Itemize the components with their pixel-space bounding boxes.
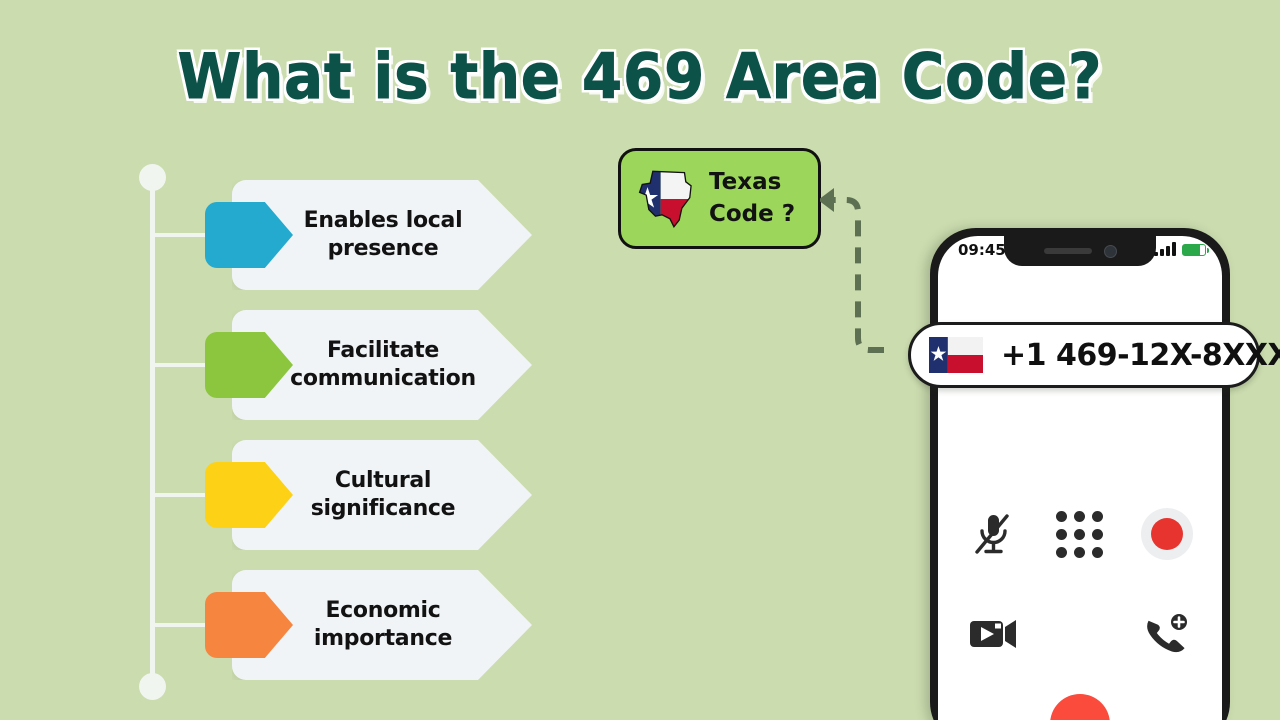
caller-number-pill[interactable]: +1 469-12X-8XXX (908, 322, 1260, 388)
feature-label: Enables local presence (268, 180, 498, 290)
keypad-dots-icon (1056, 511, 1103, 558)
end-call-button[interactable] (1050, 694, 1110, 720)
record-button-ring (1141, 508, 1193, 560)
texas-badge-label: Texas Code ? (709, 167, 795, 229)
mute-button[interactable] (961, 502, 1025, 566)
feature-item-economic-importance[interactable]: Economic importance (0, 570, 560, 680)
record-button[interactable] (1135, 502, 1199, 566)
cellular-signal-icon (1154, 242, 1176, 256)
mic-off-icon (973, 512, 1013, 556)
feature-label: Economic importance (268, 570, 498, 680)
phone-screen: 09:45 (938, 236, 1222, 720)
add-call-button[interactable] (1134, 602, 1198, 666)
call-controls-row-2 (950, 584, 1210, 684)
call-controls-row-1 (950, 484, 1210, 584)
status-bar-indicators (1154, 242, 1206, 256)
page-title: What is the 469 Area Code? (45, 40, 1235, 113)
phone-plus-icon (1143, 612, 1189, 656)
end-call-handset-icon (1063, 707, 1097, 720)
video-camera-icon (969, 615, 1019, 653)
infographic-canvas: What is the 469 Area Code? Enables local… (0, 0, 1280, 720)
phone-notch (1004, 236, 1156, 266)
texas-state-flag-map-icon (633, 166, 699, 232)
keypad-button[interactable] (1048, 502, 1112, 566)
smartphone-mockup: 09:45 (930, 228, 1230, 720)
feature-item-enables-local-presence[interactable]: Enables local presence (0, 180, 560, 290)
feature-item-facilitate-communication[interactable]: Facilitate communication (0, 310, 560, 420)
battery-icon (1182, 244, 1206, 256)
caller-number: +1 469-12X-8XXX (1001, 338, 1280, 373)
feature-label: Cultural significance (268, 440, 498, 550)
front-camera-icon (1104, 245, 1117, 258)
feature-label: Facilitate communication (268, 310, 498, 420)
status-bar-time: 09:45 (958, 241, 1006, 259)
call-controls-row-3 (950, 684, 1210, 720)
texas-code-badge[interactable]: Texas Code ? (618, 148, 821, 249)
video-button[interactable] (962, 602, 1026, 666)
call-controls (950, 484, 1210, 720)
earpiece-speaker-icon (1044, 248, 1092, 254)
record-dot-icon (1151, 518, 1183, 550)
feature-item-cultural-significance[interactable]: Cultural significance (0, 440, 560, 550)
texas-flag-icon (929, 337, 983, 373)
